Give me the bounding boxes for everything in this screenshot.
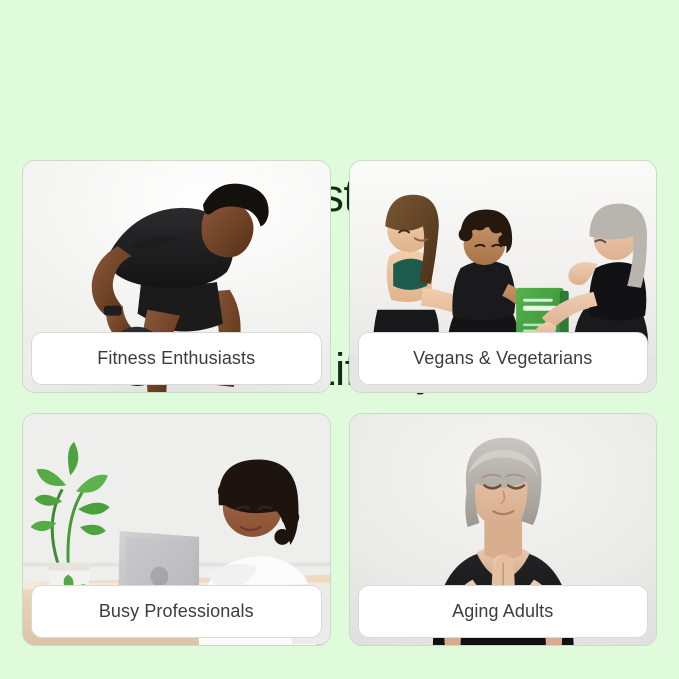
card-label-text: Fitness Enthusiasts	[97, 348, 255, 369]
card-label-pill-fitness[interactable]: Fitness Enthusiasts	[31, 332, 322, 385]
audience-card-busy-professionals[interactable]: Busy Professionals	[22, 413, 331, 646]
audience-card-grid: Fitness Enthusiasts	[22, 160, 657, 646]
card-label-text: Aging Adults	[452, 601, 553, 622]
promo-page: Your Daily Boost — No Matter the Lifesty…	[0, 0, 679, 679]
card-label-pill-professionals[interactable]: Busy Professionals	[31, 585, 322, 638]
audience-card-fitness-enthusiasts[interactable]: Fitness Enthusiasts	[22, 160, 331, 393]
audience-card-vegans-vegetarians[interactable]: Vegans & Vegetarians	[349, 160, 658, 393]
audience-card-aging-adults[interactable]: Aging Adults	[349, 413, 658, 646]
card-label-pill-vegans[interactable]: Vegans & Vegetarians	[358, 332, 649, 385]
card-label-pill-aging-adults[interactable]: Aging Adults	[358, 585, 649, 638]
card-label-text: Busy Professionals	[99, 601, 254, 622]
card-label-text: Vegans & Vegetarians	[413, 348, 592, 369]
